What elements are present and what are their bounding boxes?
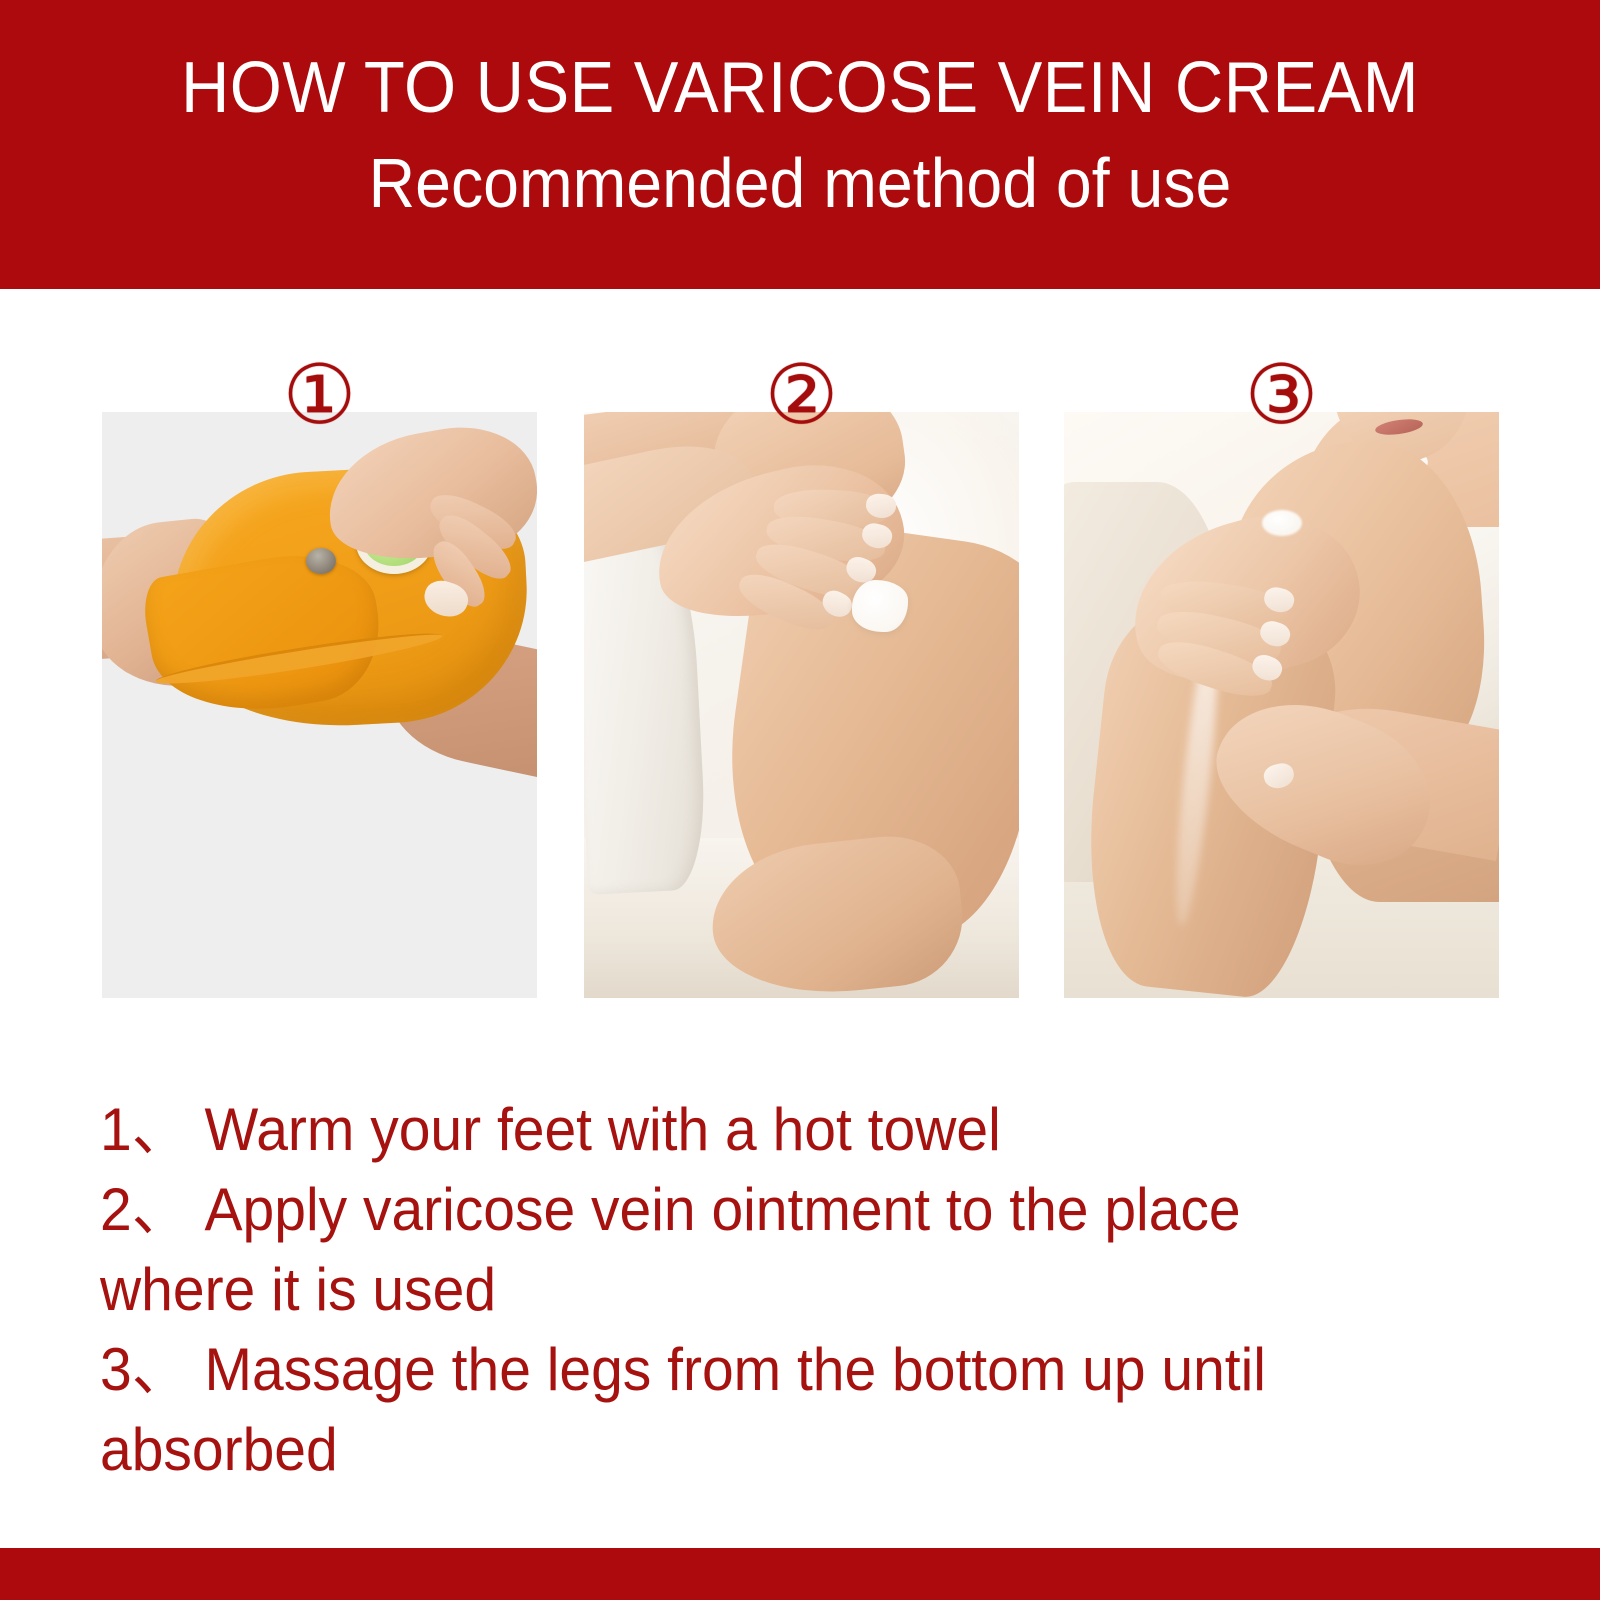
step-2: ② [584, 355, 1019, 1000]
pad-indicator-icon [306, 548, 336, 574]
page-title: HOW TO USE VARICOSE VEIN CREAM [56, 52, 1544, 124]
instruction-step-3-line-2: absorbed [100, 1410, 1449, 1490]
footer-banner [0, 1548, 1600, 1600]
header-banner: HOW TO USE VARICOSE VEIN CREAM Recommend… [0, 0, 1600, 289]
step-2-photo [584, 412, 1019, 998]
steps-row: ① ② [0, 355, 1600, 1005]
instruction-step-3-line-1: 3、 Massage the legs from the bottom up u… [100, 1330, 1449, 1410]
cream-dollop-shape [852, 580, 908, 632]
cream-smear-shape [1262, 510, 1302, 536]
instruction-step-2-line-1: 2、 Apply varicose vein ointment to the p… [100, 1170, 1449, 1250]
step-1-photo [102, 412, 537, 998]
instructions-list: 1、 Warm your feet with a hot towel 2、 Ap… [100, 1090, 1449, 1490]
step-1: ① [102, 355, 537, 1000]
step-3: ③ [1064, 355, 1499, 1000]
instruction-step-1: 1、 Warm your feet with a hot towel [100, 1090, 1449, 1170]
step-3-photo [1064, 412, 1499, 998]
instruction-step-2-line-2: where it is used [100, 1250, 1449, 1330]
page-subtitle: Recommended method of use [64, 148, 1536, 218]
